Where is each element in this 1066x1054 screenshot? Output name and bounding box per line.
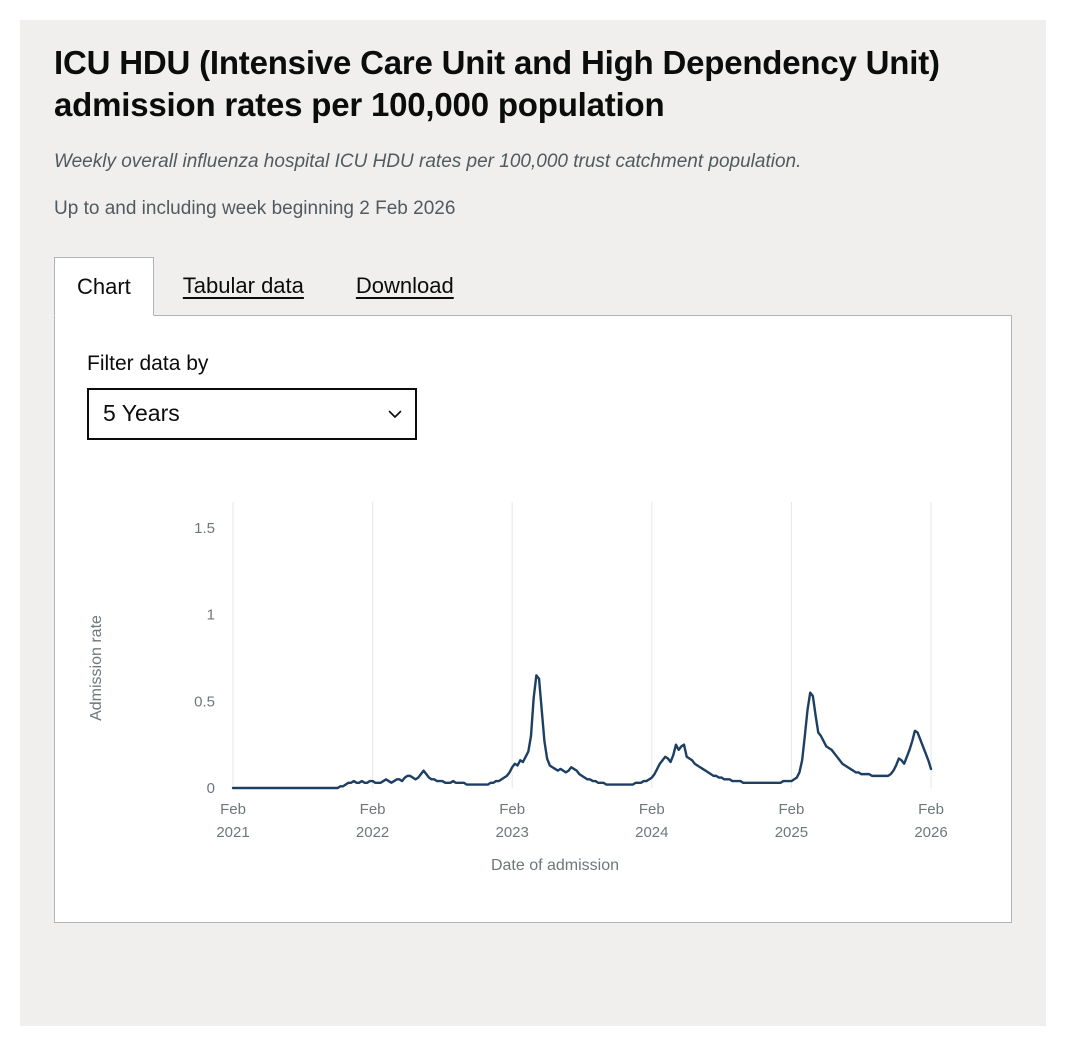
filter-label: Filter data by xyxy=(87,352,981,376)
svg-text:Feb: Feb xyxy=(499,801,525,818)
svg-text:0: 0 xyxy=(207,780,215,797)
page-subtitle: Weekly overall influenza hospital ICU HD… xyxy=(54,149,1012,175)
last-updated-text: Up to and including week beginning 2 Feb… xyxy=(54,196,1012,222)
tab-chart[interactable]: Chart xyxy=(54,257,154,316)
svg-text:2025: 2025 xyxy=(775,824,808,841)
filter-selected-value: 5 Years xyxy=(103,400,387,427)
svg-text:Feb: Feb xyxy=(639,801,665,818)
tab-panel-chart: Filter data by 5 Years 00.511.5 xyxy=(54,315,1012,923)
svg-text:2023: 2023 xyxy=(496,824,529,841)
svg-text:2022: 2022 xyxy=(356,824,389,841)
tab-tabular-data[interactable]: Tabular data xyxy=(160,256,327,315)
svg-text:Feb: Feb xyxy=(220,801,246,818)
chart-y-tick-labels: 00.511.5 xyxy=(194,520,215,797)
chart-x-tick-labels: Feb2021Feb2022Feb2023Feb2024Feb2025Feb20… xyxy=(216,801,947,841)
tabs-container: Chart Tabular data Download Filter data … xyxy=(54,256,1012,923)
tab-list: Chart Tabular data Download xyxy=(54,256,1012,315)
svg-text:0.5: 0.5 xyxy=(194,693,215,710)
admission-rate-line-chart: 00.511.5 Feb2021Feb2022Feb2023Feb2024Feb… xyxy=(85,488,985,888)
content-inner: ICU HDU (Intensive Care Unit and High De… xyxy=(54,42,1012,923)
svg-text:Feb: Feb xyxy=(778,801,804,818)
svg-text:1.5: 1.5 xyxy=(194,520,215,537)
page-title: ICU HDU (Intensive Care Unit and High De… xyxy=(54,42,994,126)
svg-text:2026: 2026 xyxy=(914,824,947,841)
content-card: ICU HDU (Intensive Care Unit and High De… xyxy=(20,20,1046,1026)
svg-text:1: 1 xyxy=(207,606,215,623)
chevron-down-icon xyxy=(387,406,403,422)
svg-text:Feb: Feb xyxy=(360,801,386,818)
chart-series-line xyxy=(233,675,931,788)
chart-y-axis-title: Admission rate xyxy=(88,615,105,721)
page-root: ICU HDU (Intensive Care Unit and High De… xyxy=(0,0,1066,1054)
filter-data-by-select[interactable]: 5 Years xyxy=(87,388,417,440)
svg-text:Feb: Feb xyxy=(918,801,944,818)
tab-download[interactable]: Download xyxy=(333,256,477,315)
svg-text:2021: 2021 xyxy=(216,824,249,841)
chart-x-axis-title: Date of admission xyxy=(491,857,619,874)
svg-text:2024: 2024 xyxy=(635,824,668,841)
chart-container: 00.511.5 Feb2021Feb2022Feb2023Feb2024Feb… xyxy=(85,488,985,888)
